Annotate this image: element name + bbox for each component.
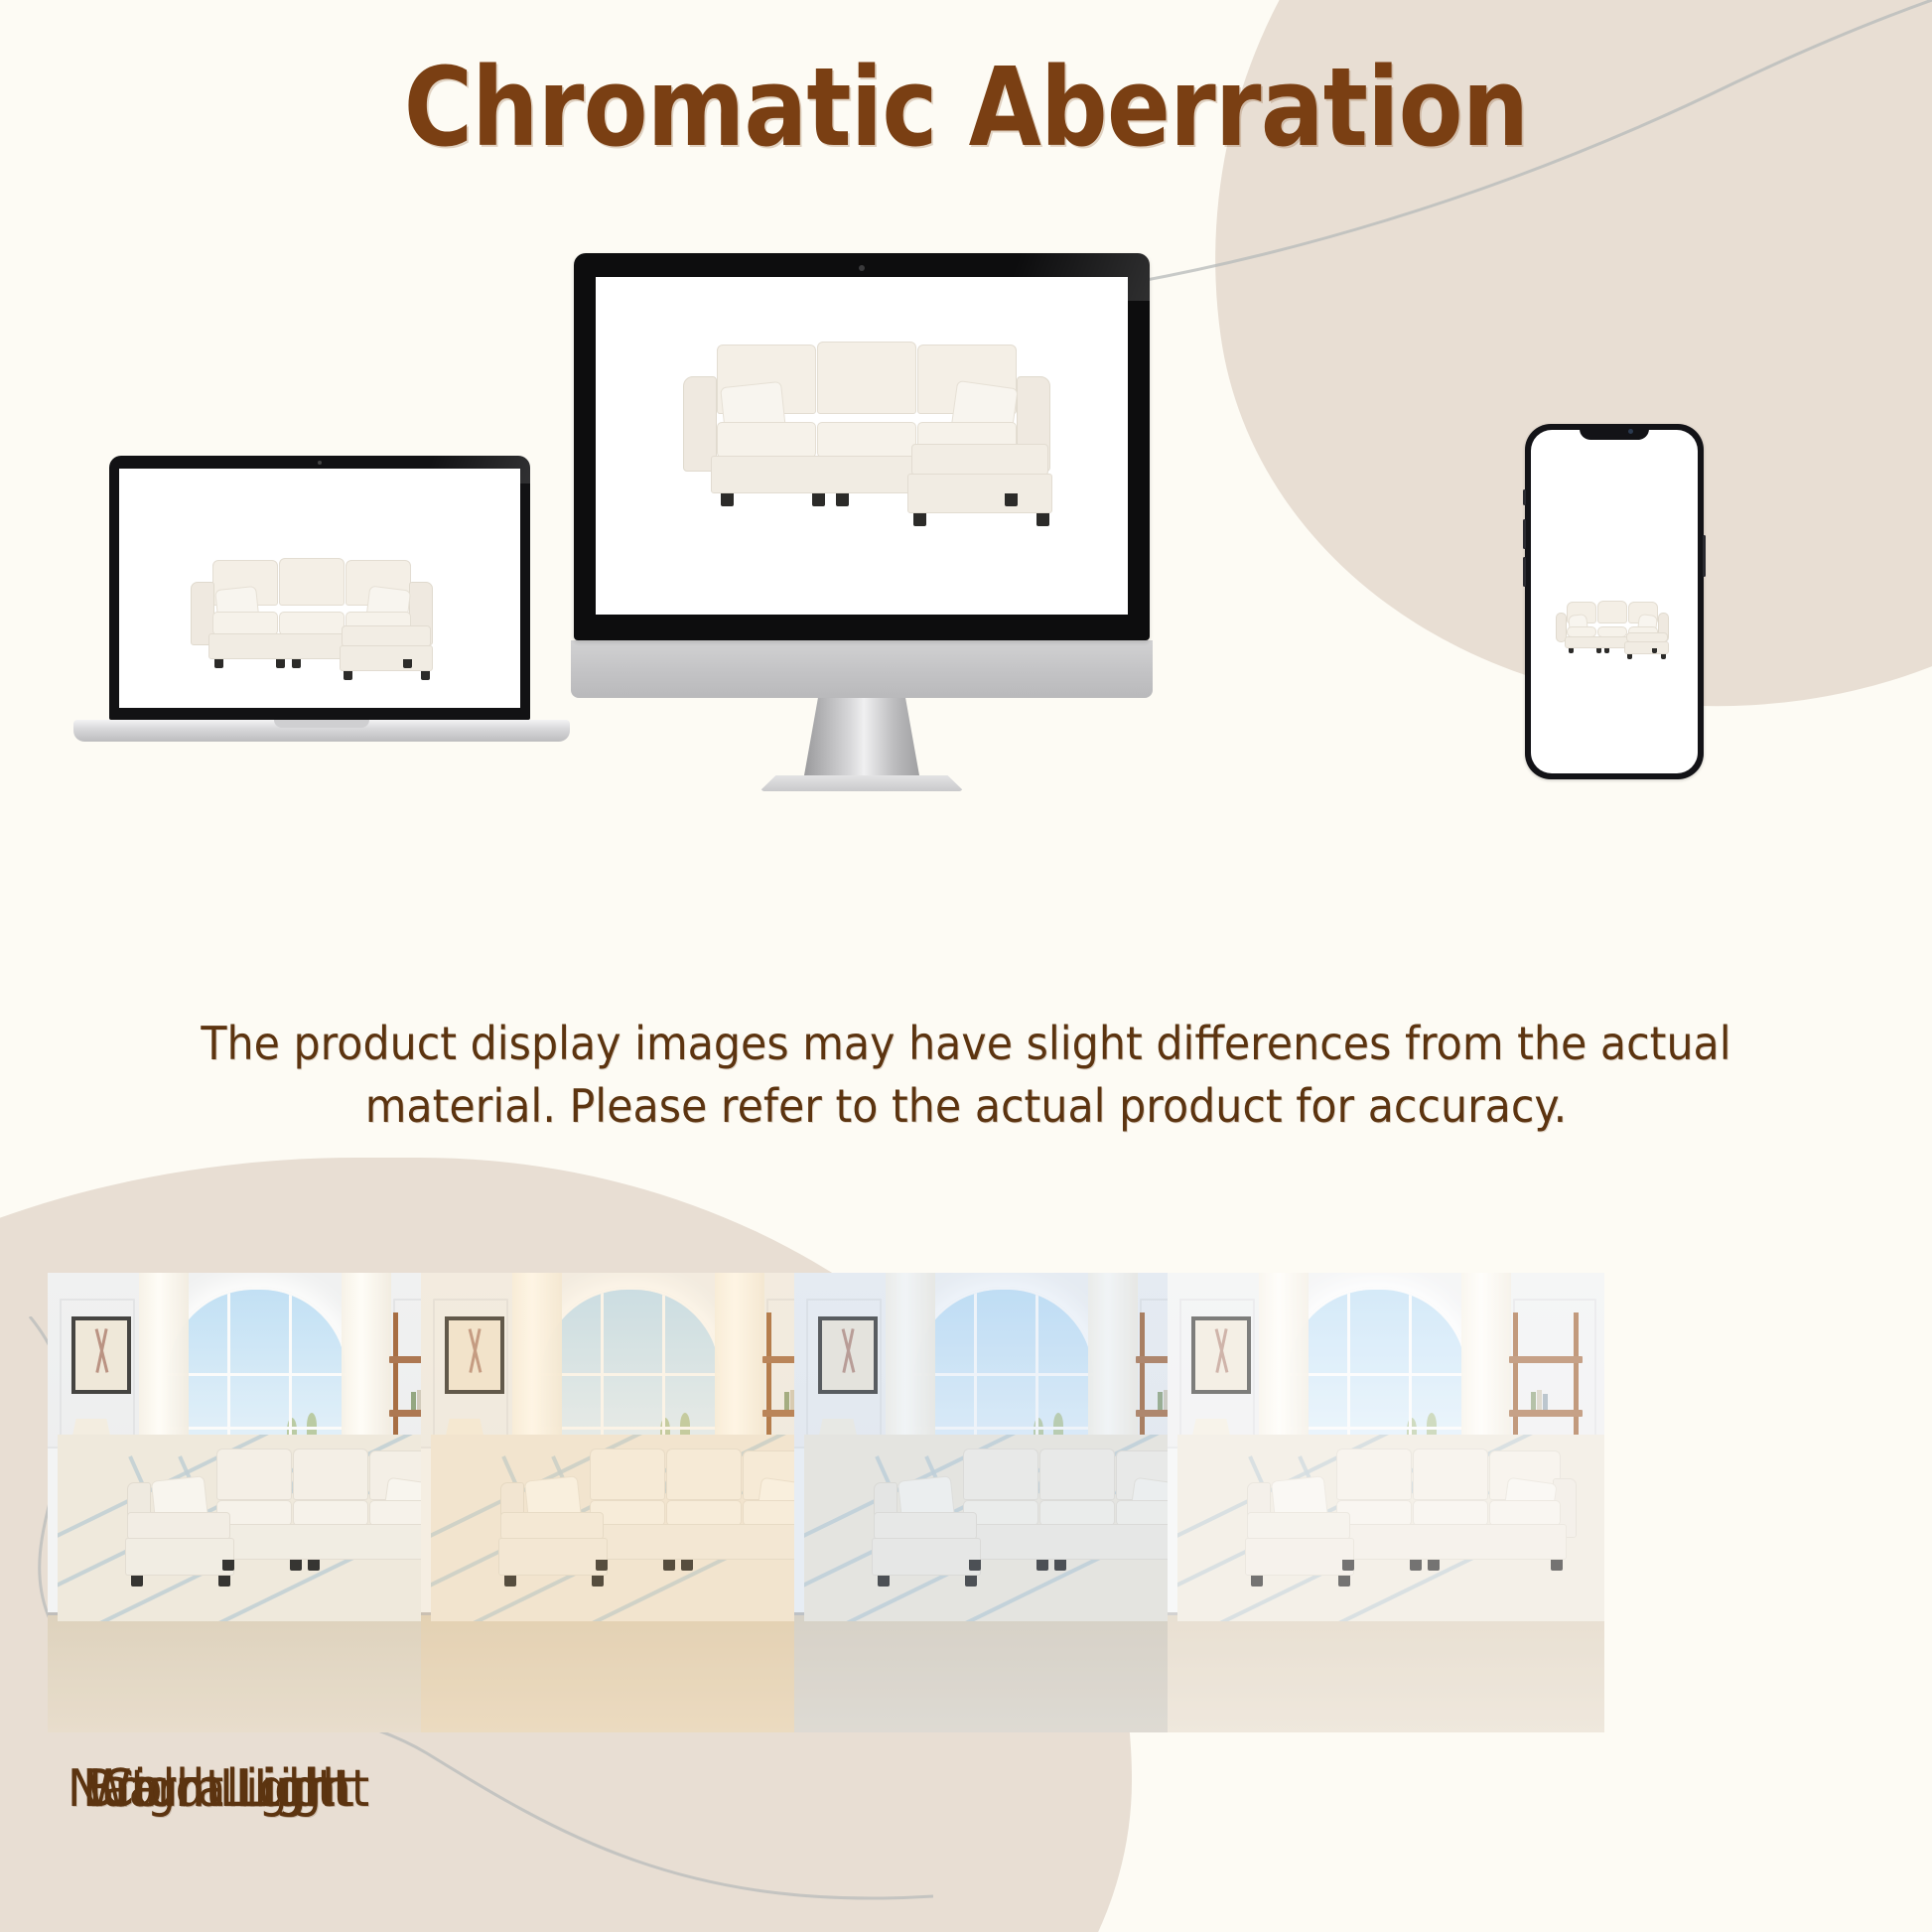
framed-wall-art [445, 1316, 504, 1394]
laptop-screen [119, 469, 520, 708]
sofa-product-image [165, 554, 473, 677]
phone-mockup [1525, 424, 1704, 779]
lighting-sample-bright-light[interactable] [1168, 1273, 1604, 1732]
sofa-in-room [479, 1449, 832, 1607]
phone-volume-down-button [1523, 557, 1526, 587]
room-scene [48, 1273, 484, 1732]
framed-wall-art [1191, 1316, 1251, 1394]
lighting-sample-warm-light[interactable] [421, 1273, 858, 1732]
phone-screen [1531, 430, 1698, 773]
monitor-stand-neck [804, 698, 919, 775]
monitor-chin [571, 640, 1153, 698]
sofa-in-room [1225, 1449, 1579, 1607]
monitor-stand-base [759, 775, 964, 791]
laptop-mockup [73, 456, 570, 742]
webcam-icon [318, 461, 322, 465]
lighting-sample-gallery [0, 1273, 1932, 1739]
product-infographic-page: Chromatic Aberration [0, 0, 1932, 1932]
phone-body [1525, 424, 1704, 779]
sofa-in-room [105, 1449, 459, 1607]
lighting-sample-cold-light[interactable] [794, 1273, 1231, 1732]
disclaimer-text: The product display images may have slig… [151, 1013, 1781, 1137]
monitor-screen [596, 277, 1128, 615]
page-title: Chromatic Aberration [135, 44, 1797, 171]
framed-wall-art [818, 1316, 878, 1394]
device-mockup-group [0, 253, 1932, 948]
sofa-in-room [852, 1449, 1205, 1607]
lighting-sample-natural-light[interactable] [48, 1273, 484, 1732]
laptop-lid [109, 456, 530, 720]
sofa-product-image [1545, 599, 1684, 662]
phone-silent-switch [1523, 489, 1526, 505]
room-scene [1168, 1273, 1604, 1732]
framed-wall-art [71, 1316, 131, 1394]
webcam-icon [859, 265, 865, 271]
monitor-bezel [574, 253, 1150, 640]
laptop-base [73, 720, 570, 742]
phone-volume-up-button [1523, 519, 1526, 549]
sofa-product-image [647, 337, 1094, 525]
phone-notch [1580, 424, 1649, 440]
monitor-mockup [574, 253, 1150, 791]
lighting-label-bright: Bright Light [22, 1759, 415, 1819]
laptop-trackpad-notch [274, 720, 369, 728]
phone-power-button [1703, 535, 1706, 577]
room-scene [421, 1273, 858, 1732]
room-scene [794, 1273, 1231, 1732]
